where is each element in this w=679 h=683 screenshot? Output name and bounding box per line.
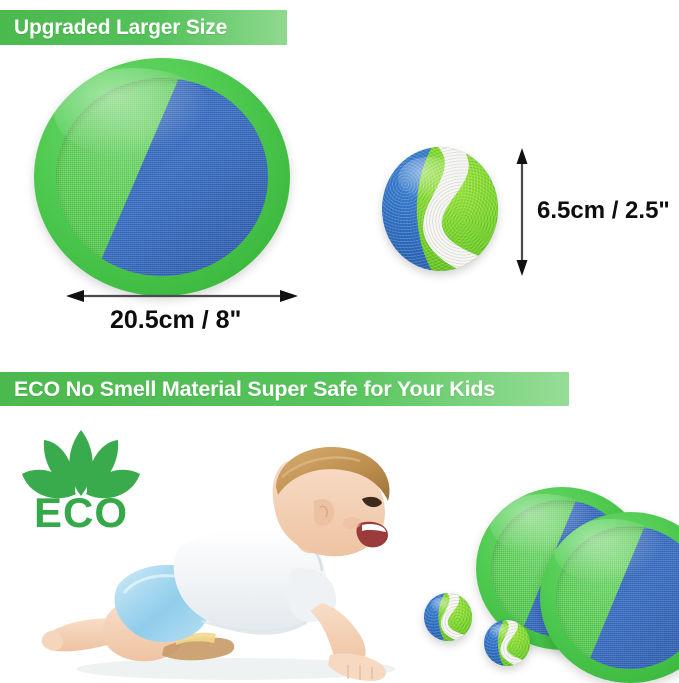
paddle-dimension-arrow: [66, 286, 298, 306]
banner-eco-material-text: ECO No Smell Material Super Safe for You…: [14, 377, 495, 402]
ball-secondary-2: [484, 620, 530, 666]
paddle-main-highlight: [54, 68, 213, 158]
paddle-secondary-front: [540, 512, 679, 683]
baby-cheek: [343, 517, 361, 529]
ball-dimension-label: 6.5cm / 2.5": [537, 197, 670, 225]
infographic-canvas: Upgraded Larger Size 6.5cm / 2.5" 20.5cm…: [0, 0, 679, 683]
ball-main-highlight: [398, 157, 458, 199]
ball-main: [382, 147, 498, 271]
banner-upgraded-size: Upgraded Larger Size: [0, 10, 287, 45]
paddle-main: [34, 58, 290, 296]
paddle-secondary-front-highlight: [554, 519, 666, 584]
paddle-dimension-label: 20.5cm / 8": [110, 306, 241, 335]
banner-eco-material: ECO No Smell Material Super Safe for You…: [0, 372, 569, 406]
ball-secondary-1: [424, 593, 472, 641]
banner-upgraded-size-text: Upgraded Larger Size: [14, 16, 227, 40]
baby-photo: [30, 425, 426, 683]
ball-secondary-1-highlight: [431, 597, 456, 613]
ball-dimension-arrow: [505, 148, 541, 276]
